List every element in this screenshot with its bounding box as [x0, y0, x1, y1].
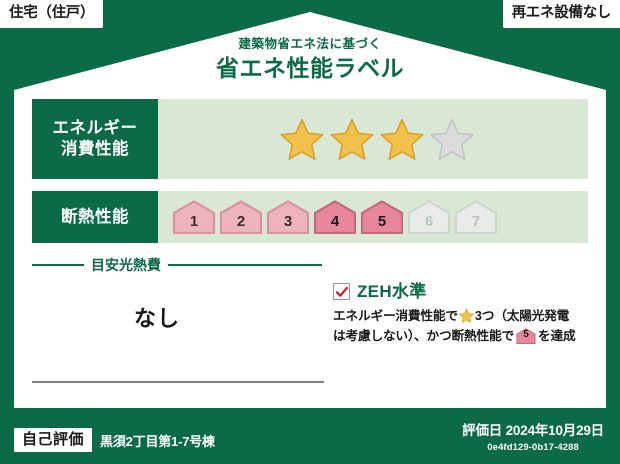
zeh-desc-part2: は考慮しない）、かつ断熱性能で — [333, 329, 514, 343]
label-title: 省エネ性能ラベル — [0, 54, 620, 83]
insulation-level-chip: 6 — [407, 200, 451, 234]
energy-label-line2: 消費性能 — [61, 139, 129, 160]
renewable-energy-tag: 再エネ設備なし — [503, 0, 620, 28]
insulation-performance-label: 断熱性能 — [32, 191, 158, 243]
inline-house-number: 5 — [516, 328, 536, 344]
insulation-level-chip: 7 — [454, 200, 498, 234]
zeh-desc-part1: エネルギー消費性能で — [333, 309, 458, 323]
energy-performance-label: エネルギー 消費性能 — [32, 99, 158, 179]
insulation-level-chip: 1 — [172, 200, 216, 234]
energy-performance-row: エネルギー 消費性能 — [32, 99, 588, 179]
insulation-level-chip: 2 — [219, 200, 263, 234]
utility-cost-section: 目安光熱費 なし — [32, 255, 322, 333]
energy-label-line1: エネルギー — [53, 118, 138, 139]
utility-cost-divider — [32, 381, 324, 383]
label-subtitle: 建築物省エネ法に基づく — [0, 38, 620, 52]
insulation-level-number: 5 — [378, 214, 386, 234]
zeh-description: エネルギー消費性能で 3つ（太陽光発電は考慮しない）、かつ断熱性能で 5を達成 — [333, 307, 583, 346]
inline-house-icon: 5 — [516, 328, 536, 344]
footer-right-group: 評価日 2024年10月29日 0e4fd129-0b17-4288 — [462, 423, 604, 454]
energy-star-rating — [158, 99, 588, 179]
star-filled-icon — [330, 117, 374, 161]
insulation-level-number: 1 — [190, 214, 198, 234]
checkmark-icon — [335, 285, 349, 299]
evaluation-date: 評価日 2024年10月29日 — [462, 423, 604, 439]
insulation-level-number: 3 — [284, 214, 292, 234]
building-name-text: 黒須2丁目第1-7号棟 — [100, 431, 215, 450]
zeh-standard-section: ZEH水準 エネルギー消費性能で 3つ（太陽光発電は考慮しない）、かつ断熱性能で… — [333, 283, 583, 346]
insulation-level-number: 4 — [331, 214, 339, 234]
utility-cost-heading: 目安光熱費 — [32, 255, 322, 275]
building-type-tag: 住宅（住戸） — [0, 0, 103, 28]
insulation-level-number: 6 — [425, 214, 433, 234]
footer-left-group: 自己評価 黒須2丁目第1-7号棟 — [14, 428, 215, 452]
label-id-text: 0e4fd129-0b17-4288 — [462, 442, 604, 454]
zeh-title-row: ZEH水準 — [333, 283, 583, 300]
insulation-level-scale: 1234567 — [158, 191, 588, 243]
zeh-desc-part3: を達成 — [538, 329, 575, 343]
self-evaluation-badge: 自己評価 — [14, 428, 92, 452]
insulation-level-chip: 5 — [360, 200, 404, 234]
star-empty-icon — [430, 117, 474, 161]
insulation-level-chip: 4 — [313, 200, 357, 234]
insulation-level-number: 7 — [472, 214, 480, 234]
label-title-block: 建築物省エネ法に基づく 省エネ性能ラベル — [0, 38, 620, 83]
heading-rule-left — [32, 264, 84, 266]
star-filled-icon — [380, 117, 424, 161]
insulation-level-chip: 3 — [266, 200, 310, 234]
zeh-checkbox — [333, 283, 350, 300]
insulation-label-text: 断熱性能 — [61, 207, 129, 228]
utility-cost-value: なし — [32, 301, 322, 333]
insulation-level-number: 2 — [237, 214, 245, 234]
energy-performance-label: 住宅（住戸） 再エネ設備なし 建築物省エネ法に基づく 省エネ性能ラベル エネルギ… — [0, 0, 620, 464]
star-filled-icon — [280, 117, 324, 161]
utility-cost-heading-text: 目安光熱費 — [91, 255, 161, 275]
insulation-performance-row: 断熱性能 1234567 — [32, 191, 588, 243]
zeh-desc-starcount: 3つ（太陽光発電 — [475, 309, 569, 323]
inline-star-icon — [459, 308, 474, 323]
zeh-title-text: ZEH水準 — [357, 283, 427, 300]
heading-rule-right — [168, 264, 322, 266]
